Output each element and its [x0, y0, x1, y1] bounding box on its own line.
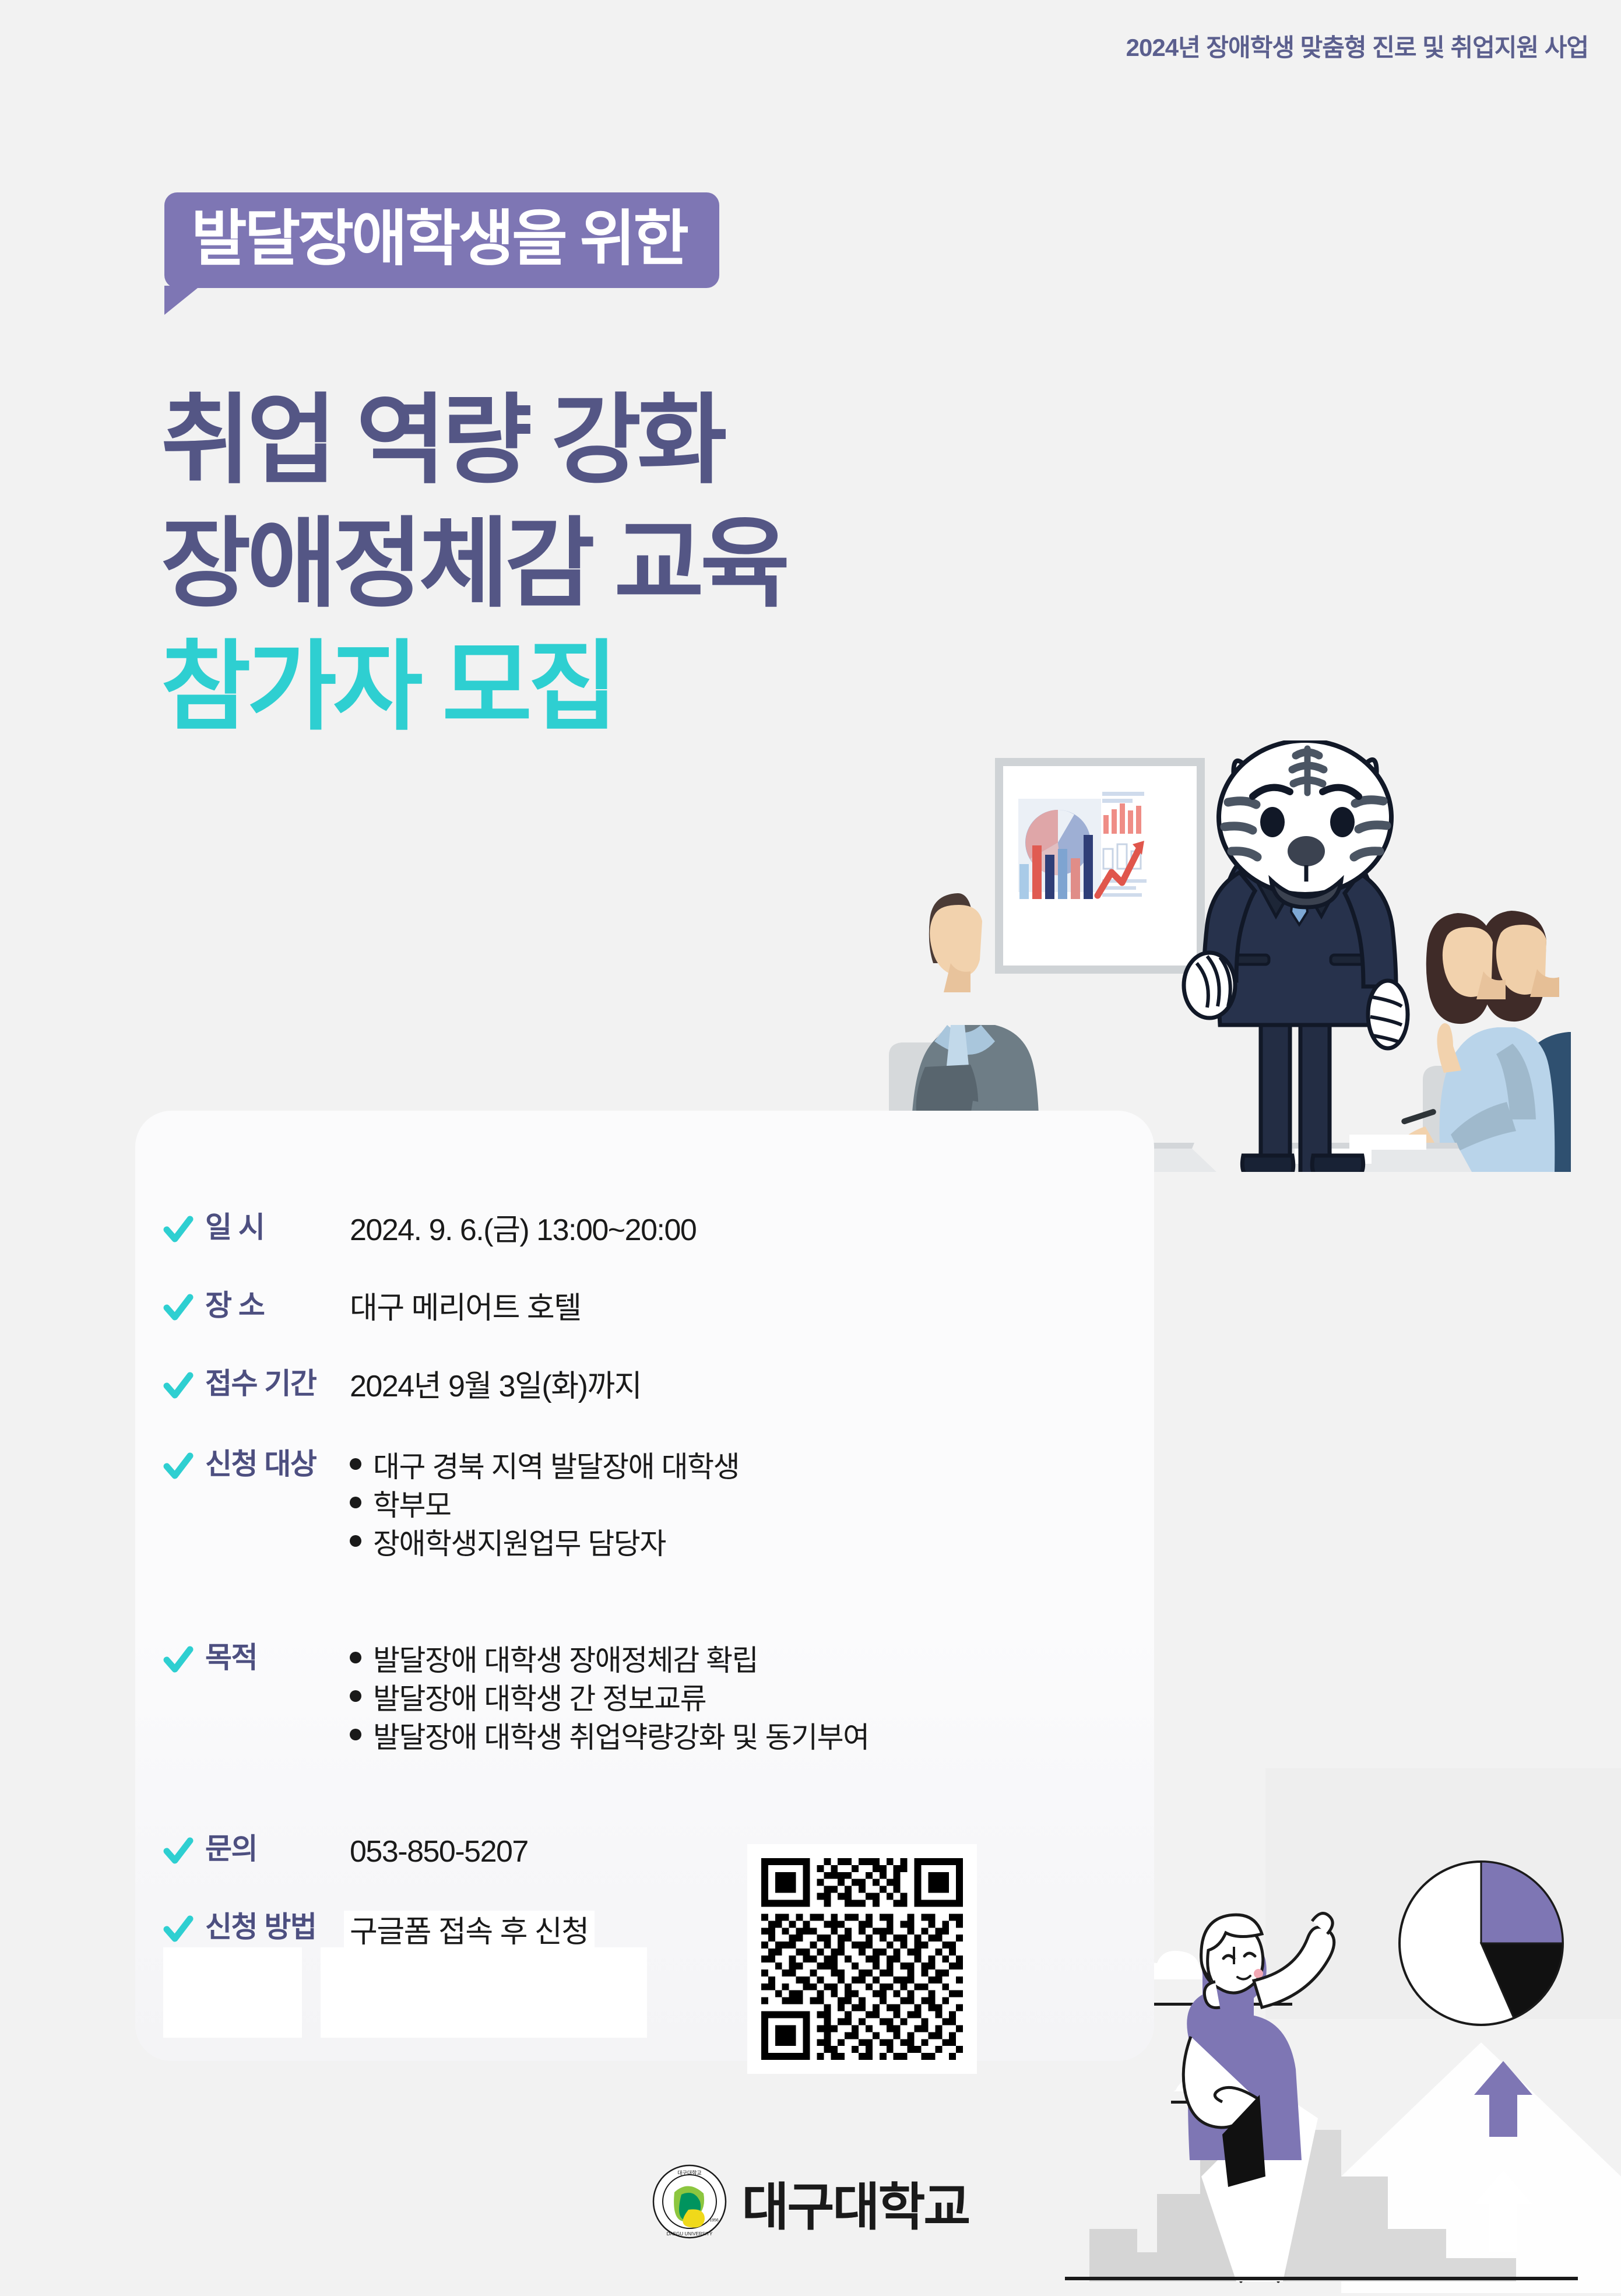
check-icon: [163, 1451, 194, 1481]
list-item-text: 대구 경북 지역 발달장애 대학생: [373, 1448, 739, 1486]
info-value-place: 대구 메리어트 호텔: [350, 1289, 581, 1329]
check-icon: [163, 1836, 194, 1866]
info-label-target: 신청 대상: [205, 1448, 350, 1481]
headline-line-1: 취업 역량 강화: [161, 379, 786, 503]
info-row-date: 일 시 2024. 9. 6.(금) 13:00~20:00: [163, 1211, 696, 1251]
svg-text:DAEGU UNIVERSITY: DAEGU UNIVERSITY: [666, 2231, 712, 2237]
info-label-purpose: 목적: [205, 1641, 350, 1675]
headline-line-3: 참가자 모집: [161, 626, 786, 749]
info-label-contact: 문의: [205, 1832, 350, 1866]
badge-tail-icon: [164, 286, 201, 315]
svg-text:대구대학교: 대구대학교: [677, 2170, 701, 2176]
white-panel-left: [163, 1947, 302, 2038]
bullet-dot-icon: [350, 1535, 361, 1547]
info-label-period: 접수 기간: [205, 1367, 350, 1401]
footer-university-name: 대구대학교: [742, 2166, 969, 2240]
list-item-text: 학부모: [373, 1486, 451, 1525]
info-row-purpose: 목적 발달장애 대학생 장애정체감 확립 발달장애 대학생 간 정보교류 발달장…: [163, 1641, 869, 1757]
check-icon: [163, 1293, 194, 1323]
info-row-place: 장 소 대구 메리어트 호텔: [163, 1289, 581, 1329]
svg-text:1956: 1956: [709, 2218, 719, 2223]
info-label-place: 장 소: [205, 1289, 350, 1323]
list-item: 발달장애 대학생 장애정체감 확립: [350, 1641, 869, 1680]
bullet-dot-icon: [350, 1652, 361, 1663]
bullet-dot-icon: [350, 1729, 361, 1740]
footer-logo: 대구대학교 DAEGU UNIVERSITY 1956 대구대학교: [0, 2164, 1621, 2242]
info-row-contact: 문의 053-850-5207: [163, 1832, 528, 1872]
tiger-mascot-icon: [1184, 740, 1408, 1172]
list-item: 장애학생지원업무 담당자: [350, 1525, 739, 1563]
list-item: 발달장애 대학생 간 정보교류: [350, 1680, 869, 1718]
list-item: 발달장애 대학생 취업약량강화 및 동기부여: [350, 1718, 869, 1757]
bullet-dot-icon: [350, 1690, 361, 1702]
program-line: 2024년 장애학생 맞춤형 진로 및 취업지원 사업: [1126, 28, 1588, 64]
info-row-period: 접수 기간 2024년 9월 3일(화)까지: [163, 1367, 641, 1407]
list-item: 대구 경북 지역 발달장애 대학생: [350, 1448, 739, 1486]
info-row-target: 신청 대상 대구 경북 지역 발달장애 대학생 학부모 장애학생지원업무 담당자: [163, 1448, 739, 1563]
info-value-period: 2024년 9월 3일(화)까지: [350, 1367, 641, 1407]
list-item-text: 장애학생지원업무 담당자: [373, 1525, 666, 1563]
list-item-text: 발달장애 대학생 장애정체감 확립: [373, 1641, 758, 1680]
info-label-date: 일 시: [205, 1211, 350, 1245]
subtitle-badge-bubble: 발달장애학생을 위한: [164, 192, 719, 288]
qr-code-icon[interactable]: [747, 1844, 977, 2074]
list-item: 학부모: [350, 1486, 739, 1525]
page-title: 취업 역량 강화 장애정체감 교육 참가자 모집: [161, 379, 786, 749]
info-value-target-list: 대구 경북 지역 발달장애 대학생 학부모 장애학생지원업무 담당자: [350, 1448, 739, 1563]
info-value-contact: 053-850-5207: [350, 1832, 528, 1872]
info-card: 일 시 2024. 9. 6.(금) 13:00~20:00 장 소 대구 메리…: [135, 1111, 1154, 2061]
check-icon: [163, 1214, 194, 1245]
check-icon: [163, 1914, 194, 1944]
info-value-purpose-list: 발달장애 대학생 장애정체감 확립 발달장애 대학생 간 정보교류 발달장애 대…: [350, 1641, 869, 1757]
white-panel-right: [321, 1947, 647, 2038]
list-item-text: 발달장애 대학생 간 정보교류: [373, 1680, 706, 1718]
check-icon: [163, 1645, 194, 1675]
headline-line-2: 장애정체감 교육: [161, 503, 786, 626]
list-item-text: 발달장애 대학생 취업약량강화 및 동기부여: [373, 1718, 869, 1757]
bullet-dot-icon: [350, 1497, 361, 1508]
info-value-date: 2024. 9. 6.(금) 13:00~20:00: [350, 1211, 696, 1251]
check-icon: [163, 1371, 194, 1401]
subtitle-badge-label: 발달장애학생을 위한: [191, 205, 687, 273]
bullet-dot-icon: [350, 1458, 361, 1470]
info-label-howto: 신청 방법: [205, 1911, 344, 1944]
meeting-scene-illustration: [883, 740, 1571, 1172]
daegu-university-emblem-icon: 대구대학교 DAEGU UNIVERSITY 1956: [652, 2164, 727, 2242]
subtitle-badge: 발달장애학생을 위한: [164, 192, 719, 288]
